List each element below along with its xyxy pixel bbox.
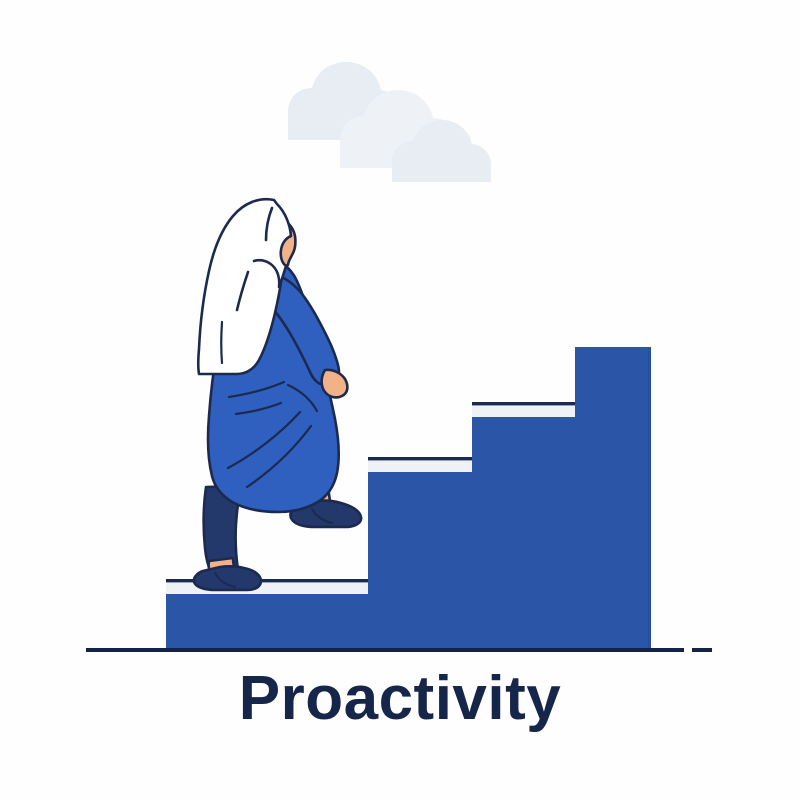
ground-line xyxy=(86,648,712,652)
staircase-right-edge-shade xyxy=(648,347,651,650)
step-2-tread-edge xyxy=(368,457,472,460)
step-3-tread-edge xyxy=(472,402,575,405)
back-shoe xyxy=(194,566,261,590)
ground-line-main xyxy=(86,648,684,652)
hijab-back-crease xyxy=(221,322,222,363)
cloud-group xyxy=(288,62,491,182)
woman-climbing-stairs xyxy=(194,199,361,590)
illustration-canvas: Proactivity xyxy=(0,0,800,800)
page-title: Proactivity xyxy=(0,668,800,730)
ground-line-dash xyxy=(692,648,712,652)
right-hand xyxy=(322,370,348,398)
